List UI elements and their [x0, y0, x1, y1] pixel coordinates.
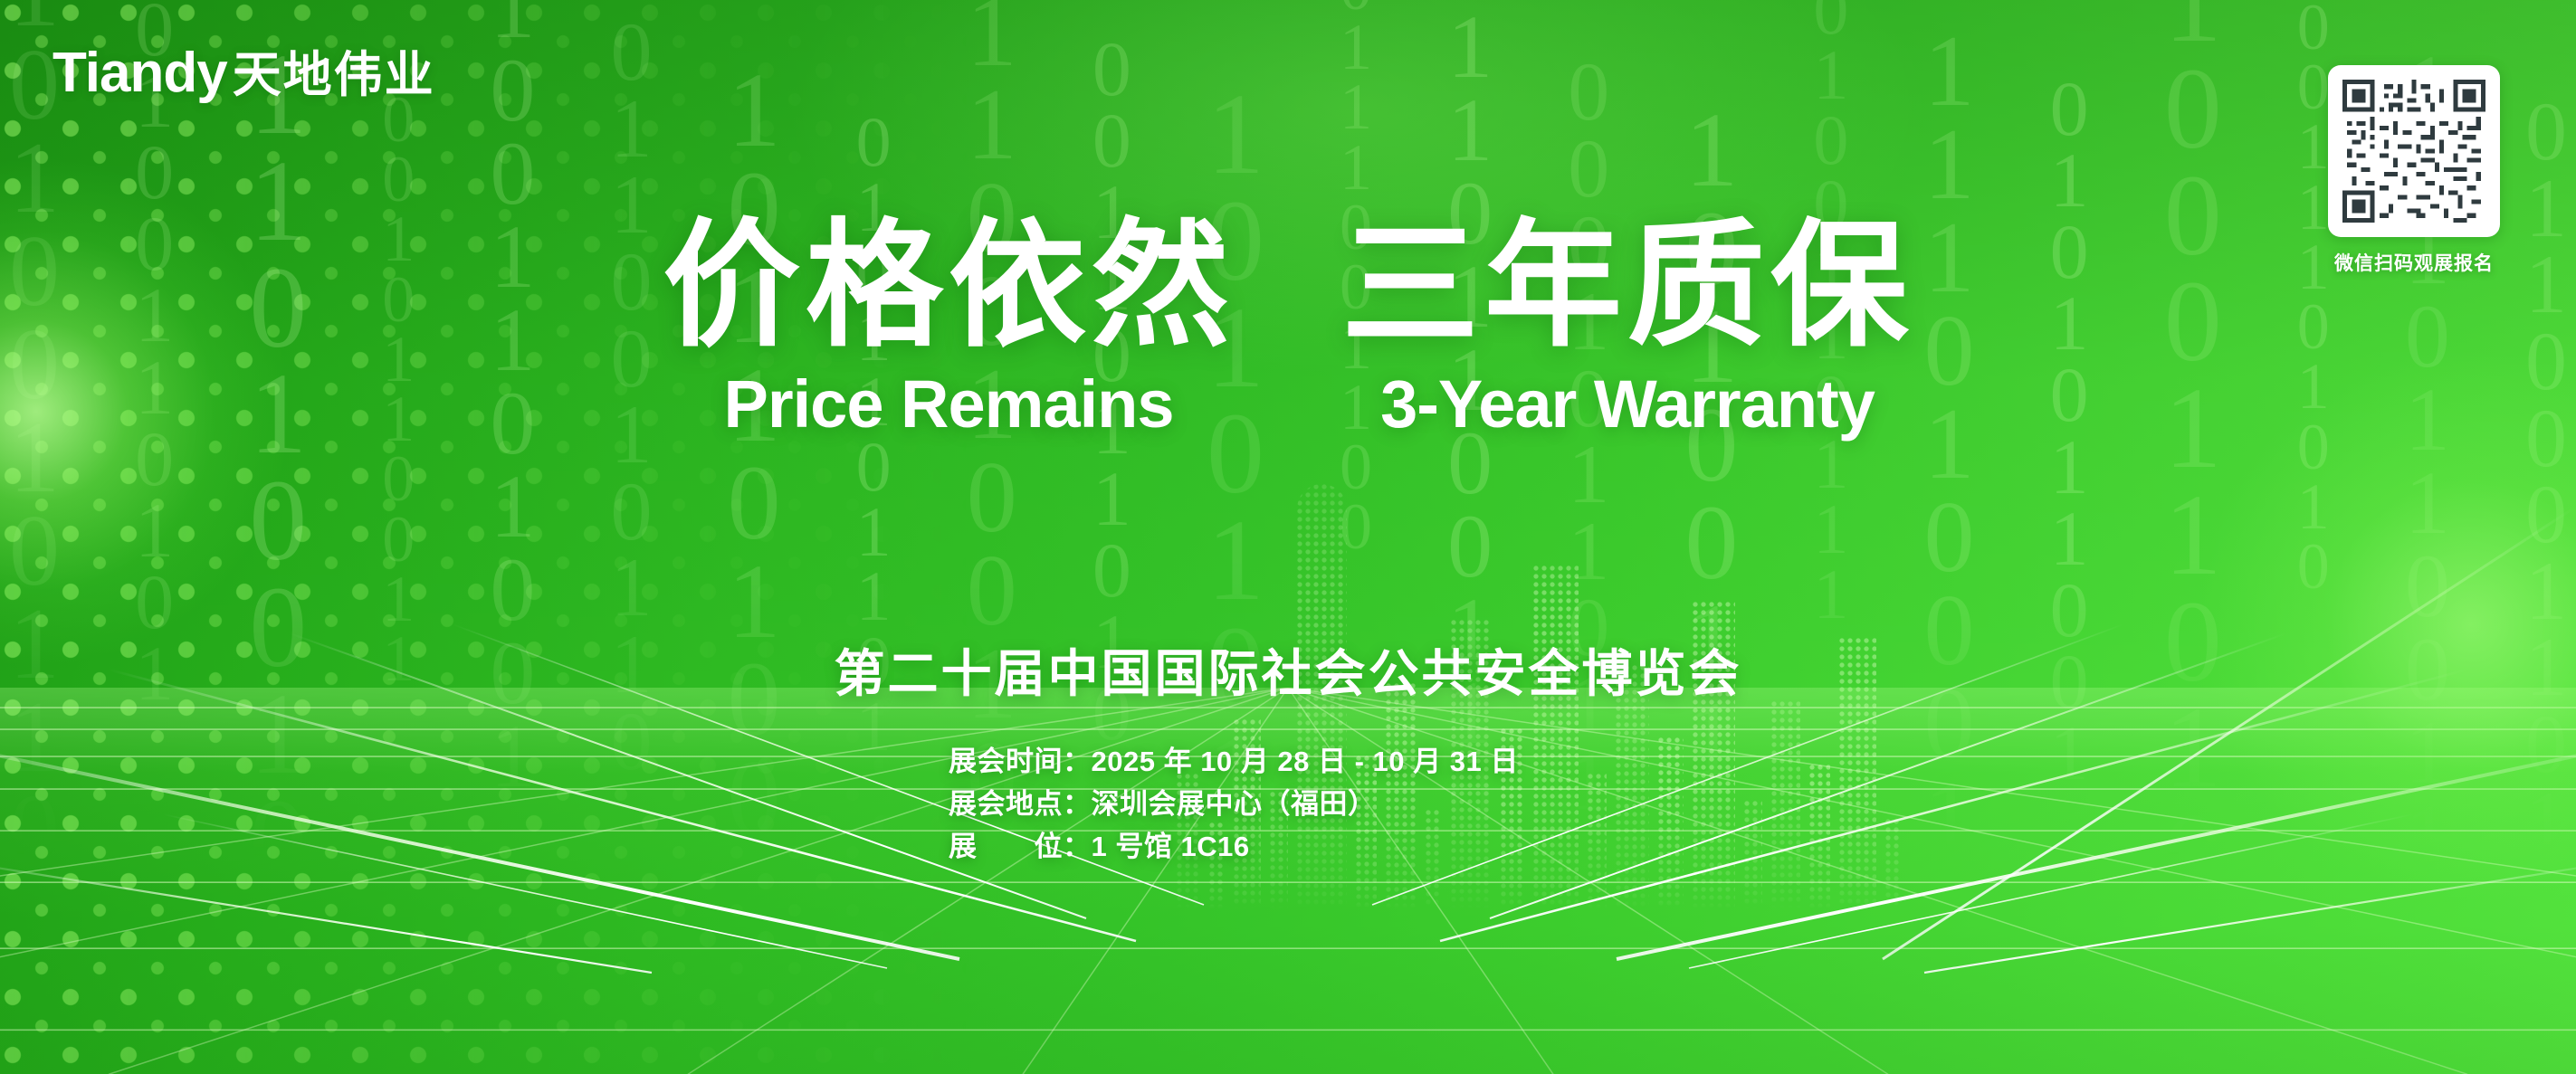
detail-row-date: 展会时间：2025 年 10 月 28 日 - 10 月 31 日	[949, 740, 1519, 783]
detail-value-venue: 深圳会展中心（福田）	[1092, 788, 1377, 820]
headline-warranty: 三年质保 3-Year Warranty	[1341, 217, 1913, 438]
brand-logo: Tiandy 天地伟业	[52, 34, 435, 106]
headline-warranty-en: 3-Year Warranty	[1341, 371, 1913, 438]
headline-price: 价格依然 Price Remains	[663, 217, 1235, 438]
headline-row: 价格依然 Price Remains 三年质保 3-Year Warranty	[0, 217, 2576, 438]
detail-label-venue: 展会地点：	[949, 783, 1092, 825]
detail-label-date: 展会时间：	[949, 740, 1092, 783]
detail-value-booth: 1 号馆 1C16	[1092, 831, 1250, 862]
expo-details: 展会时间：2025 年 10 月 28 日 - 10 月 31 日 展会地点：深…	[949, 740, 1519, 868]
banner-content: Tiandy 天地伟业	[0, 0, 2576, 1074]
promo-banner: 1 0 1 0 0 1 0 1 1 00 1 0 0 1 1 0 1 0 11 …	[0, 0, 2576, 1074]
brand-logo-en: Tiandy	[52, 41, 227, 105]
detail-row-booth: 展 位：1 号馆 1C16	[949, 825, 1519, 868]
detail-label-booth: 展 位：	[949, 825, 1092, 868]
headline-price-en: Price Remains	[663, 371, 1235, 438]
qr-code-icon[interactable]	[2328, 65, 2500, 237]
detail-row-venue: 展会地点：深圳会展中心（福田）	[949, 783, 1519, 825]
headline-price-cn: 价格依然	[663, 217, 1235, 355]
qr-code-matrix	[2338, 75, 2490, 227]
detail-value-date: 2025 年 10 月 28 日 - 10 月 31 日	[1092, 746, 1519, 777]
brand-logo-cn: 天地伟业	[233, 34, 435, 106]
headline-warranty-cn: 三年质保	[1341, 217, 1913, 355]
expo-title: 第二十届中国国际社会公共安全博览会	[0, 633, 2576, 707]
